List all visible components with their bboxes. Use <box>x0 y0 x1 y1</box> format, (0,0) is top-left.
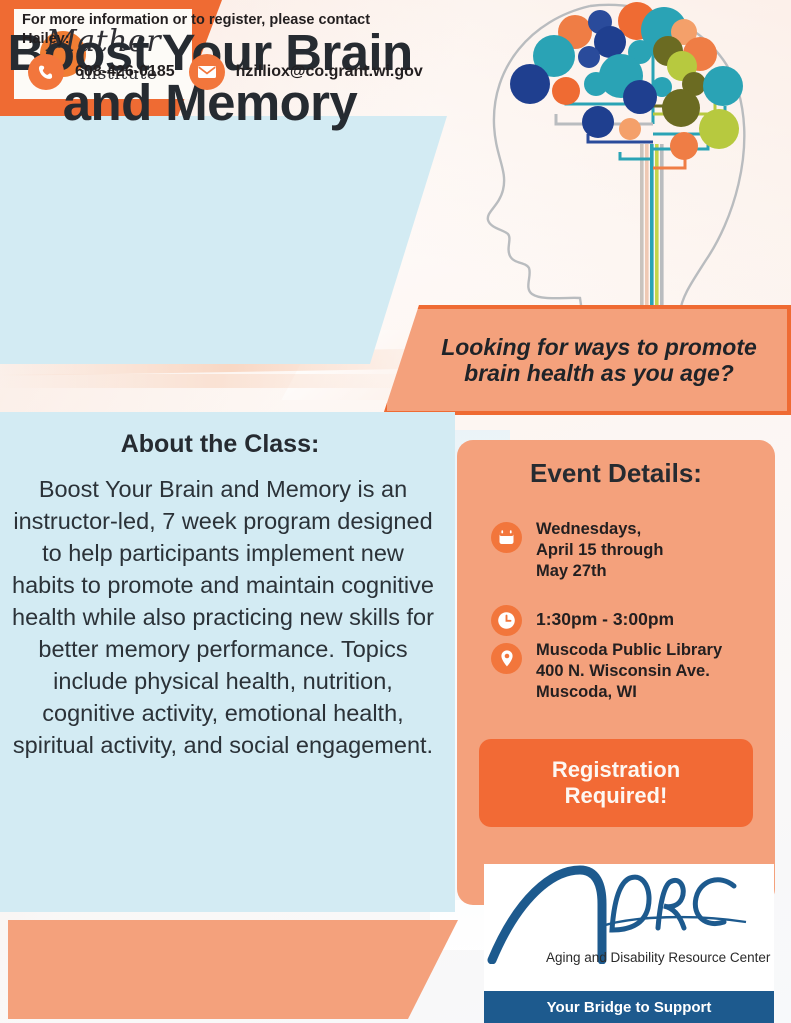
background-streak-lower <box>0 374 430 388</box>
about-heading: About the Class: <box>0 430 440 459</box>
date-line-2: April 15 through <box>536 540 663 561</box>
detail-text-time: 1:30pm - 3:00pm <box>536 608 674 630</box>
question-banner: Looking for ways to promote brain health… <box>383 305 791 415</box>
adrc-acronym-mark <box>484 864 774 964</box>
location-line-2: 400 N. Wisconsin Ave. <box>536 661 722 682</box>
detail-text-date: Wednesdays, April 15 through May 27th <box>536 519 663 582</box>
contact-email[interactable]: hzilliox@co.grant.wi.gov <box>189 54 423 90</box>
registration-line-1: Registration <box>552 757 680 783</box>
about-body-text: Boost Your Brain and Memory is an instru… <box>8 474 438 762</box>
brain-tree-illustration <box>470 0 791 314</box>
date-line-3: May 27th <box>536 561 663 582</box>
adrc-logo: Aging and Disability Resource Center You… <box>484 864 774 1023</box>
date-line-1: Wednesdays, <box>536 519 663 540</box>
contact-banner <box>8 920 458 1019</box>
question-banner-text: Looking for ways to promote brain health… <box>434 334 764 387</box>
detail-text-location: Muscoda Public Library 400 N. Wisconsin … <box>536 640 722 703</box>
location-line-3: Muscoda, WI <box>536 682 722 703</box>
detail-row-date: Wednesdays, April 15 through May 27th <box>491 519 663 582</box>
contact-items: 608-426-0185 hzilliox@co.grant.wi.gov <box>28 54 423 90</box>
detail-row-location: Muscoda Public Library 400 N. Wisconsin … <box>491 640 722 703</box>
event-details-heading: Event Details: <box>457 458 775 489</box>
location-pin-icon <box>491 643 522 674</box>
phone-icon <box>28 54 64 90</box>
contact-heading: For more information or to register, ple… <box>22 11 432 49</box>
registration-line-2: Required! <box>552 783 680 809</box>
registration-required-button[interactable]: Registration Required! <box>479 739 753 827</box>
adrc-tagline: Your Bridge to Support <box>484 991 774 1023</box>
about-the-class-section: About the Class: Boost Your Brain and Me… <box>0 412 455 912</box>
event-details-card: Event Details: Wednesdays, April 15 thro… <box>457 440 775 905</box>
email-address: hzilliox@co.grant.wi.gov <box>236 63 423 81</box>
contact-phone[interactable]: 608-426-0185 <box>28 54 175 90</box>
contact-heading-line-2: Hailey: <box>22 30 432 49</box>
envelope-icon <box>189 54 225 90</box>
calendar-icon <box>491 522 522 553</box>
location-line-1: Muscoda Public Library <box>536 640 722 661</box>
phone-number: 608-426-0185 <box>75 63 175 81</box>
adrc-full-name: Aging and Disability Resource Center <box>546 950 774 965</box>
contact-heading-line-1: For more information or to register, ple… <box>22 11 432 30</box>
detail-row-time: 1:30pm - 3:00pm <box>491 602 674 636</box>
flyer-page: Mather institute Boost Your Brain and Me… <box>0 0 791 1023</box>
clock-icon <box>491 605 522 636</box>
